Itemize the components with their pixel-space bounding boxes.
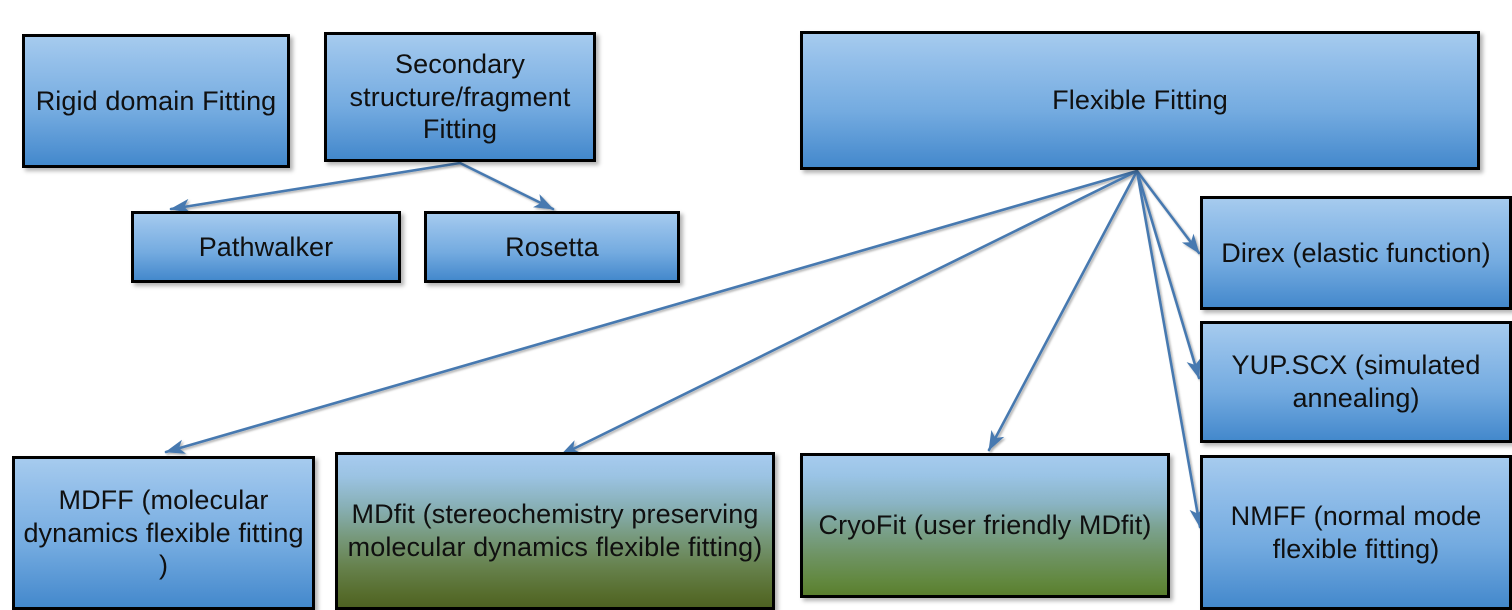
node-pathwalker[interactable]: Pathwalker <box>131 211 401 283</box>
node-yup-scx[interactable]: YUP.SCX (simulated annealing) <box>1200 321 1512 443</box>
node-secondary-structure-fragment-fitting[interactable]: Secondary structure/fragment Fitting <box>324 32 596 162</box>
node-label-pathwalker: Pathwalker <box>142 231 390 264</box>
node-label-mdfit: MDfit (stereochemistry preserving molecu… <box>346 498 764 564</box>
node-label-yup-scx: YUP.SCX (simulated annealing) <box>1211 349 1501 415</box>
node-label-mdff: MDFF (molecular dynamics flexible fittin… <box>23 484 304 583</box>
node-mdfit[interactable]: MDfit (stereochemistry preserving molecu… <box>335 452 775 610</box>
edge-flexible-to-yupscx <box>1137 171 1199 378</box>
node-label-cryofit: CryoFit (user friendly MDfit) <box>811 509 1159 542</box>
node-label-direx: Direx (elastic function) <box>1211 237 1501 270</box>
node-label-rigid-domain-fitting: Rigid domain Fitting <box>33 85 279 118</box>
node-label-rosetta: Rosetta <box>435 231 669 264</box>
node-label-nmff: NMFF (normal mode flexible fitting) <box>1211 500 1501 566</box>
node-flexible-fitting[interactable]: Flexible Fitting <box>800 31 1480 170</box>
edge-flexible-to-direx <box>1137 171 1199 253</box>
node-mdff[interactable]: MDFF (molecular dynamics flexible fittin… <box>12 456 315 610</box>
node-direx[interactable]: Direx (elastic function) <box>1200 196 1512 310</box>
diagram-canvas: Rigid domain FittingSecondary structure/… <box>0 0 1512 610</box>
node-rosetta[interactable]: Rosetta <box>424 211 680 283</box>
node-cryofit[interactable]: CryoFit (user friendly MDfit) <box>800 453 1170 598</box>
node-nmff[interactable]: NMFF (normal mode flexible fitting) <box>1200 455 1512 610</box>
edge-secondary-to-pathwalker <box>171 163 460 209</box>
node-label-secondary-structure-fragment-fitting: Secondary structure/fragment Fitting <box>335 48 585 147</box>
node-rigid-domain-fitting[interactable]: Rigid domain Fitting <box>22 34 290 168</box>
edge-flexible-to-cryofit <box>989 171 1137 450</box>
node-label-flexible-fitting: Flexible Fitting <box>811 84 1469 117</box>
edge-secondary-to-rosetta <box>460 163 553 209</box>
